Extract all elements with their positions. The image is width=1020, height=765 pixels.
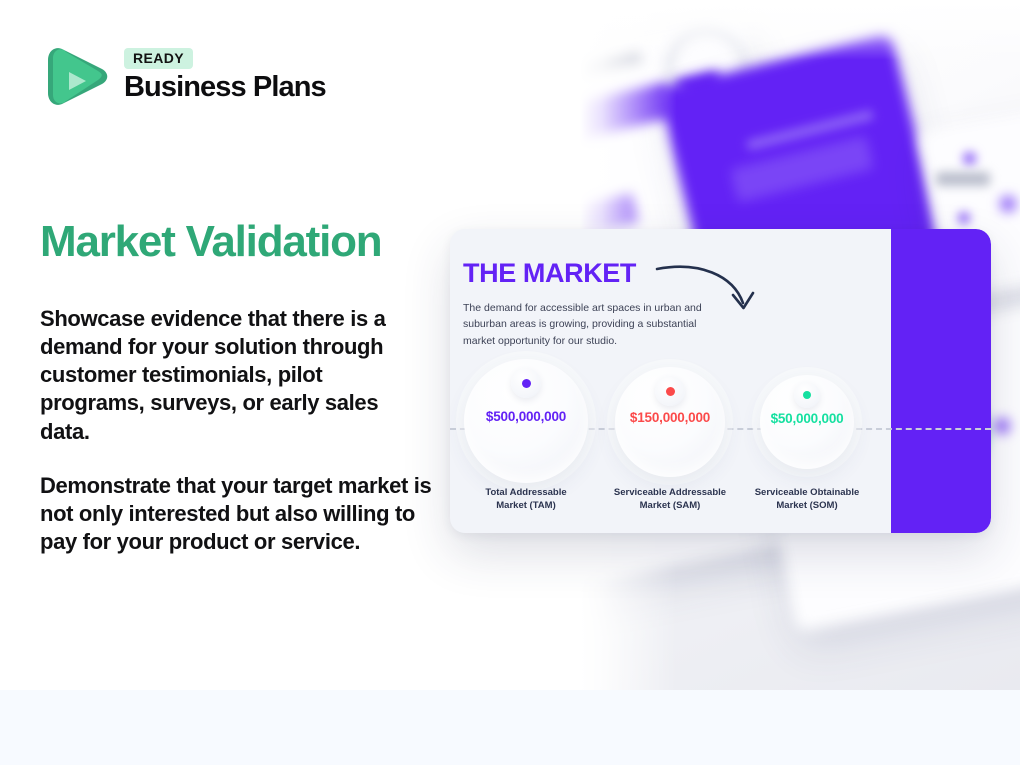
slide-canvas: READY Business Plans Market Validation S… [0, 0, 1020, 765]
bubble-label-line2: Market (SAM) [640, 500, 701, 511]
body-copy: Showcase evidence that there is a demand… [40, 305, 432, 556]
bubble-label-line1: Serviceable Obtainable [755, 487, 860, 498]
bubble-value: $50,000,000 [760, 411, 854, 426]
body-paragraph-2: Demonstrate that your target market is n… [40, 472, 432, 556]
background-dot [963, 152, 976, 165]
background-dot [1000, 196, 1016, 212]
market-preview-card[interactable]: THE MARKET The demand for accessible art… [450, 229, 991, 533]
bubble-label: Total Addressable Market (TAM) [450, 487, 604, 513]
body-paragraph-1: Showcase evidence that there is a demand… [40, 305, 432, 446]
curved-arrow-down-right-icon [655, 263, 765, 325]
bubble-value: $500,000,000 [464, 409, 588, 424]
brand-logo: READY Business Plans [40, 38, 326, 114]
page-title: Market Validation [40, 218, 381, 266]
bubble-label: Serviceable Obtainable Market (SOM) [744, 487, 870, 513]
play-triangle-logo-icon [40, 38, 110, 114]
bubble-knob [655, 376, 685, 406]
bubble-knob [511, 368, 541, 398]
bubble-value: $150,000,000 [615, 410, 725, 425]
bubble-label-line2: Market (TAM) [496, 500, 555, 511]
market-bubble-tam[interactable]: $500,000,000 Total Addressable Market (T… [464, 359, 588, 483]
red-indicator-dot-icon [666, 387, 675, 396]
bottom-band [0, 690, 1020, 765]
background-dot [994, 418, 1010, 434]
background-dot [958, 212, 970, 224]
bubble-label: Serviceable Addressable Market (SAM) [599, 487, 741, 513]
purple-indicator-dot-icon [522, 379, 531, 388]
market-bubbles-row: $500,000,000 Total Addressable Market (T… [450, 359, 991, 474]
background-bar [936, 172, 990, 186]
ready-badge: READY [124, 48, 193, 69]
brand-wordmark: READY Business Plans [124, 48, 326, 104]
green-indicator-dot-icon [803, 391, 811, 399]
bubble-knob [794, 382, 820, 408]
bubble-label-line1: Serviceable Addressable [614, 487, 726, 498]
bubble-label-line2: Market (SOM) [776, 500, 837, 511]
market-bubble-som[interactable]: $50,000,000 Serviceable Obtainable Marke… [760, 375, 854, 469]
market-bubble-sam[interactable]: $150,000,000 Serviceable Addressable Mar… [615, 367, 725, 477]
bubble-label-line1: Total Addressable [485, 487, 566, 498]
card-title: THE MARKET [463, 260, 636, 287]
brand-name: Business Plans [124, 72, 326, 104]
